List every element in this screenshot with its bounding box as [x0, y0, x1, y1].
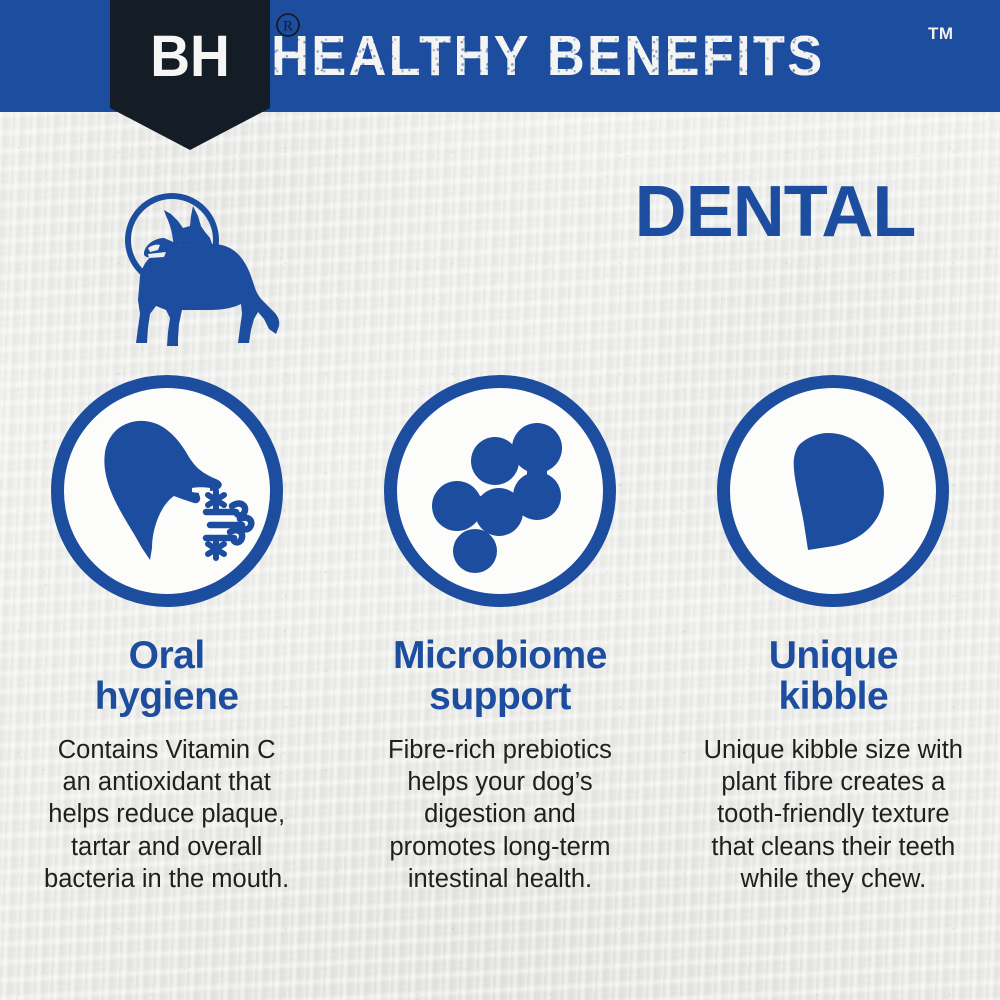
kibble-shape-icon	[730, 388, 936, 594]
svg-text:R: R	[283, 19, 293, 35]
dog-with-mouth-highlight-icon	[78, 188, 293, 358]
benefit-body-1: Contains Vitamin C an antioxidant that h…	[17, 734, 317, 896]
benefit-body-3: Unique kibble size with plant fibre crea…	[683, 734, 983, 896]
benefit-icon-circle-1	[51, 375, 283, 607]
microbiome-bacteria-icon	[397, 388, 603, 594]
benefit-heading-1: Oral hygiene	[95, 635, 239, 718]
registered-trademark-icon: R	[275, 12, 301, 38]
benefit-heading-3: Unique kibble	[769, 635, 898, 718]
healthy-benefits-infographic: HEALTHY BENEFITS TM BH R DENTAL	[0, 0, 1000, 1000]
benefit-column-unique-kibble: Unique kibble Unique kibble size with pl…	[667, 375, 1000, 896]
benefit-column-microbiome-support: Microbiome support Fibre-rich prebiotics…	[333, 375, 666, 896]
benefits-row: Oral hygiene Contains Vitamin C an antio…	[0, 375, 1000, 896]
dog-head-fresh-breath-icon	[64, 388, 270, 594]
page-title: DENTAL	[610, 176, 940, 248]
benefit-body-2: Fibre-rich prebiotics helps your dog’s d…	[350, 734, 650, 896]
benefit-heading-2: Microbiome support	[393, 635, 607, 718]
header-title-text: HEALTHY BENEFITS	[271, 28, 824, 85]
brand-initials-text: BH	[114, 0, 266, 112]
benefit-icon-circle-3	[717, 375, 949, 607]
benefit-icon-circle-2	[384, 375, 616, 607]
trademark-icon: TM	[928, 24, 954, 44]
benefit-column-oral-hygiene: Oral hygiene Contains Vitamin C an antio…	[0, 375, 333, 896]
